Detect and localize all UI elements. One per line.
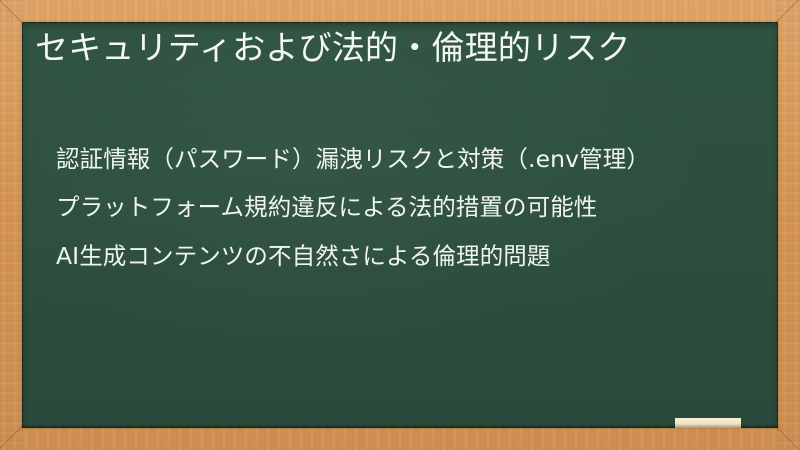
bullet-item: AI生成コンテンツの不自然さによる倫理的問題: [56, 241, 756, 272]
chalkboard-slide: セキュリティおよび法的・倫理的リスク 認証情報（パスワード）漏洩リスクと対策（.…: [0, 0, 800, 450]
bullet-item: プラットフォーム規約違反による法的措置の可能性: [56, 192, 756, 223]
frame-grain-right: [776, 0, 800, 450]
slide-title: セキュリティおよび法的・倫理的リスク: [35, 27, 751, 70]
frame-grain-left: [0, 0, 24, 450]
board-bottom-shadow: [22, 424, 778, 428]
bullet-item: 認証情報（パスワード）漏洩リスクと対策（.env管理）: [56, 144, 756, 175]
chalk-icon: [675, 418, 741, 428]
bullet-list: 認証情報（パスワード）漏洩リスクと対策（.env管理） プラットフォーム規約違反…: [56, 144, 756, 272]
chalkboard-surface: セキュリティおよび法的・倫理的リスク 認証情報（パスワード）漏洩リスクと対策（.…: [22, 22, 778, 428]
